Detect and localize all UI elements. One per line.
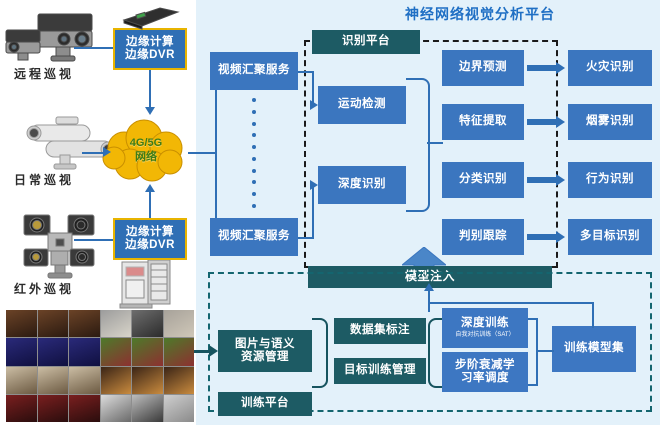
detector-motion[interactable]: 运动检测 — [318, 86, 406, 124]
diagram-canvas: 神经网络视觉分析平台 远程巡视 — [0, 0, 660, 425]
task-target-training-management[interactable]: 目标训练管理 — [334, 358, 426, 384]
arrow-cam2-cloud — [103, 147, 111, 157]
camera-label-daily: 日常巡视 — [14, 174, 84, 188]
link-edge-cloud-bottom — [149, 192, 151, 218]
stage-classification[interactable]: 分类识别 — [442, 162, 524, 198]
infrared-quad-camera-icon — [18, 213, 110, 279]
video-aggregation-service-1[interactable]: 视频汇聚服务 — [210, 52, 298, 90]
arrow-stage-to-smoke — [527, 116, 565, 128]
resource-task-brace — [312, 318, 328, 388]
stage-feature-extraction[interactable]: 特征提取 — [442, 104, 524, 140]
task-training-brace — [428, 318, 442, 388]
arrow-dataset-resource — [209, 345, 218, 357]
link-edge-cloud-top — [149, 70, 151, 108]
page-title: 神经网络视觉分析平台 — [330, 4, 630, 24]
outdoor-cabinet-icon — [118, 258, 174, 310]
recognition-platform-label[interactable]: 识别平台 — [312, 30, 420, 54]
video-aggregation-service-2[interactable]: 视频汇聚服务 — [210, 218, 298, 256]
link-modelset-up — [592, 302, 594, 328]
link-cloud-bus — [188, 152, 216, 154]
arrow-stage-to-fire — [527, 62, 565, 74]
arrow-stage-to-multitarget — [527, 231, 565, 243]
arrow-edge-cloud-bottom — [145, 184, 155, 192]
task-dataset-annotation[interactable]: 数据集标注 — [334, 318, 426, 344]
link-modelset-across — [428, 302, 594, 304]
model-set-box[interactable]: 训练模型集 — [552, 326, 636, 372]
output-multi-target-recognition[interactable]: 多目标识别 — [568, 219, 652, 255]
output-smoke-recognition[interactable]: 烟雾识别 — [568, 104, 652, 140]
training-platform-label[interactable]: 训练平台 — [218, 392, 312, 416]
edge-node-bottom[interactable]: 边缘计算 边缘DVR — [113, 218, 187, 260]
link-deep-right — [528, 318, 538, 320]
arrow-to-deep — [310, 180, 318, 190]
ptz-thermal-camera-icon — [4, 6, 109, 64]
image-dataset-thumbnails — [6, 310, 194, 422]
link-to-model-set — [536, 350, 554, 352]
stage-boundary-prediction[interactable]: 边界预测 — [442, 50, 524, 86]
brace-stem — [427, 142, 443, 144]
camera-label-remote: 远程巡视 — [14, 68, 84, 82]
resource-management-box[interactable]: 图片与语义 资源管理 — [218, 330, 312, 372]
vertical-dots-icon — [252, 98, 256, 208]
link-lr-right — [528, 384, 538, 386]
detector-deep[interactable]: 深度识别 — [318, 166, 406, 204]
arrow-stage-to-behavior — [527, 174, 565, 186]
output-behavior-recognition[interactable]: 行为识别 — [568, 162, 652, 198]
link-cam2-cloud — [82, 152, 104, 154]
output-fire-recognition[interactable]: 火灾识别 — [568, 50, 652, 86]
aggregation-bus — [215, 72, 217, 237]
arrow-to-motion — [310, 100, 318, 110]
link-agg2-up — [312, 185, 314, 239]
camera-label-infrared: 红外巡视 — [14, 283, 84, 297]
stage-tracking[interactable]: 判别跟踪 — [442, 219, 524, 255]
lr-schedule-box[interactable]: 步阶衰减学 习率调度 — [442, 352, 528, 392]
deep-training-box[interactable]: 深度训练 自我对抗训练（SAT） — [442, 308, 528, 348]
link-cam1-edge — [74, 47, 113, 49]
edge-node-top[interactable]: 边缘计算 边缘DVR — [113, 28, 187, 70]
detector-stage-brace — [406, 78, 430, 212]
deep-training-subtitle: 自我对抗训练（SAT） — [455, 332, 514, 339]
network-cloud-label: 4G/5G 网络 — [130, 137, 162, 165]
network-cloud-icon: 4G/5G 网络 — [100, 118, 192, 184]
link-cam3-edge — [74, 239, 113, 241]
arrow-edge-cloud-top — [145, 107, 155, 115]
dvr-device-icon — [120, 4, 180, 30]
link-dataset-resource — [194, 350, 210, 353]
